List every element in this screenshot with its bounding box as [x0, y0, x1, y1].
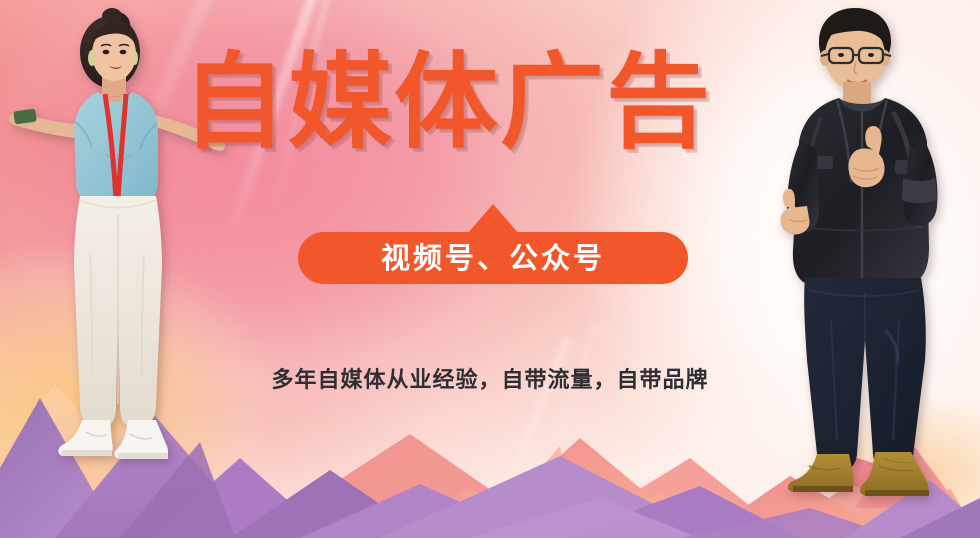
person-man-thumbs-up	[761, 0, 976, 500]
channel-badge[interactable]: 视频号、公众号	[298, 204, 688, 284]
advertising-banner: 自媒体广告 视频号、公众号 多年自媒体从业经验，自带流量，自带品牌	[0, 0, 980, 538]
tagline: 多年自媒体从业经验，自带流量，自带品牌	[0, 362, 980, 394]
badge-notch-icon	[467, 204, 519, 234]
badge-body: 视频号、公众号	[298, 232, 688, 284]
page-title: 自媒体广告	[182, 44, 712, 160]
badge-label: 视频号、公众号	[381, 244, 605, 273]
